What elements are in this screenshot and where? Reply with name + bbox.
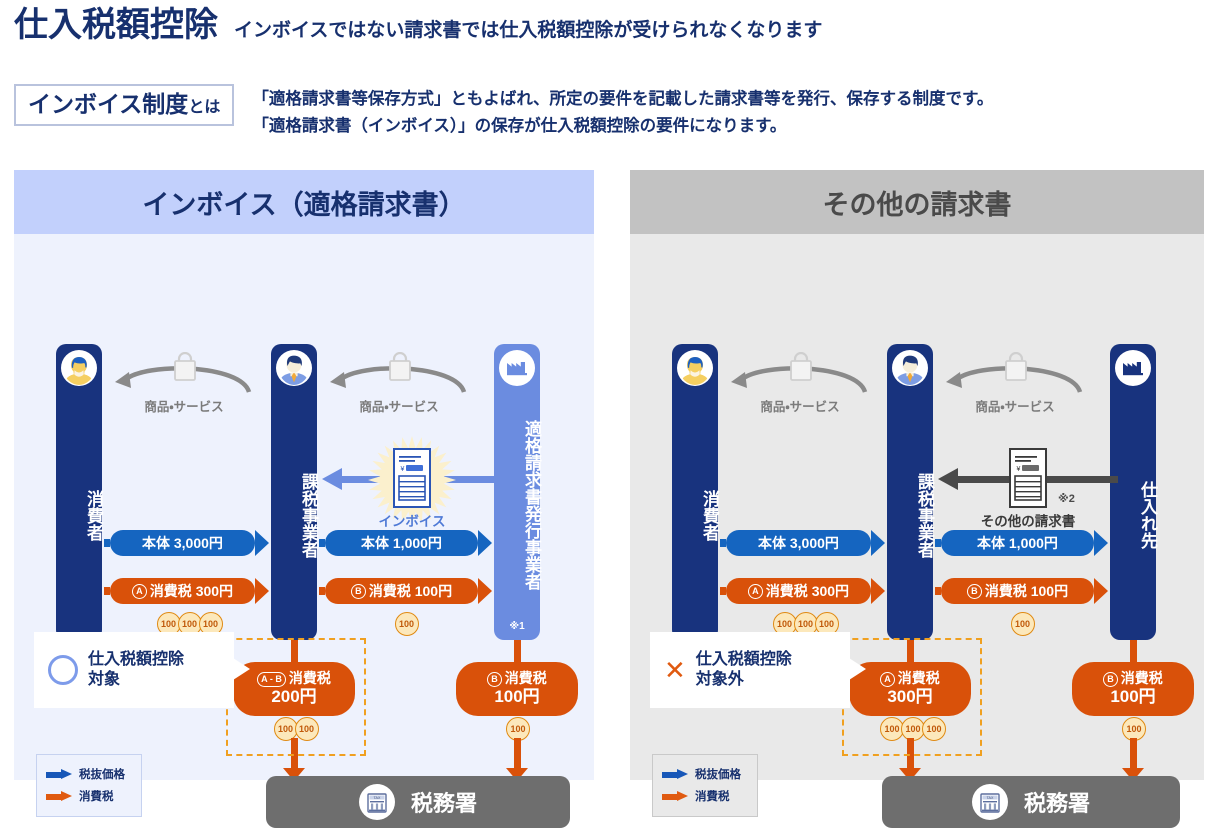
document-flow: ¥ インボイス	[322, 444, 502, 530]
net-price-arrow-2: 本体 1,000円	[935, 530, 1108, 556]
tax-mark-2: B	[967, 584, 982, 599]
svg-text:¥: ¥	[1017, 466, 1021, 473]
tax-flow-stem-top-2	[514, 640, 521, 664]
tax-result-line2-2: 100円	[1110, 687, 1155, 707]
goods-label-2: 商品・サービス	[940, 396, 1090, 415]
definition-line-2: 「適格請求書（インボイス）」の保存が仕入税額控除の要件になります。	[252, 113, 993, 140]
arrow-tip	[1094, 530, 1108, 556]
tax-office-building-icon: TAX	[972, 784, 1008, 820]
legend-label-2: 消費税	[695, 788, 730, 804]
deduction-callout-line1: 仕入税額控除	[696, 650, 792, 670]
legend-arrow-blue	[46, 769, 72, 780]
definition-text: 「適格請求書等保存方式」ともよばれ、所定の要件を記載した請求書等を発行、保存する…	[252, 84, 993, 140]
coin: 100	[1011, 612, 1035, 636]
document-note: ※2	[1058, 492, 1075, 505]
deduction-highlight-box	[226, 638, 366, 756]
actor-column-2[interactable]: 課税事業者	[887, 344, 933, 640]
legend-arrow-blue	[662, 769, 688, 780]
circle-mark-icon	[48, 655, 78, 685]
net-price-label-1: 本体 3,000円	[110, 530, 255, 556]
deduction-highlight-box	[842, 638, 982, 756]
badge-suffix-text: とは	[188, 99, 220, 116]
actor-note-3: ※1	[494, 621, 540, 632]
business-avatar-icon	[276, 350, 312, 386]
goods-flow-2: 商品・サービス	[940, 352, 1090, 414]
tax-result-mark-2: B	[487, 672, 502, 687]
tax-office-label: 税務署	[1024, 786, 1090, 818]
legend-label-1: 税抜価格	[695, 766, 741, 782]
tax-label-2: B消費税 100円	[941, 578, 1094, 604]
tax-result-line1-2: B消費税	[1103, 670, 1163, 687]
consumer-avatar-icon	[61, 350, 97, 386]
document-flow: ¥ ※2 その他の請求書	[938, 444, 1118, 530]
tax-result-box-2: B消費税 100円	[1072, 662, 1194, 716]
deduction-callout-line2: 対象外	[696, 670, 792, 690]
legend-row-2: 消費税	[37, 785, 141, 807]
deduction-callout: ✕ 仕入税額控除 対象外	[650, 632, 850, 708]
badge-main-text: インボイス制度	[28, 91, 188, 117]
deduction-callout-line2: 対象	[88, 670, 184, 690]
tax-arrow-2: B消費税 100円	[319, 578, 492, 604]
factory-icon	[499, 350, 535, 386]
arrow-tip	[478, 530, 492, 556]
coin-group-2: 100	[395, 612, 416, 636]
callout-tail	[849, 658, 866, 680]
page-subtitle: インボイスではない請求書では仕入税額控除が受けられなくなります	[234, 21, 822, 40]
tax-mark-2: B	[351, 584, 366, 599]
tax-result-line1-2: B消費税	[487, 670, 547, 687]
legend-label-2: 消費税	[79, 788, 114, 804]
tax-result-box-2: B消費税 100円	[456, 662, 578, 716]
deduction-callout-text: 仕入税額控除 対象	[88, 650, 184, 691]
svg-text:TAX: TAX	[987, 796, 994, 800]
actor-label-2: 課税事業者	[887, 396, 933, 634]
panel-invoice-body: 消費者 課税事業者 適格請求書発行事業者 ※1 商品・サービス	[14, 234, 594, 780]
tax-office-label: 税務署	[411, 786, 477, 818]
deduction-callout-line1: 仕入税額控除	[88, 650, 184, 670]
panel-other-title: その他の請求書	[630, 170, 1204, 234]
arrow-tip	[871, 578, 885, 604]
tax-arrow-2: B消費税 100円	[935, 578, 1108, 604]
net-price-label-2: 本体 1,000円	[941, 530, 1094, 556]
goods-label-1: 商品・サービス	[725, 396, 875, 415]
tax-arrow-1: A消費税 300円	[720, 578, 885, 604]
legend-label-1: 税抜価格	[79, 766, 125, 782]
tax-result-line2-2: 100円	[494, 687, 539, 707]
legend: 税抜価格 消費税	[36, 754, 142, 817]
arrow-tip	[255, 530, 269, 556]
actor-column-1[interactable]: 消費者	[56, 344, 102, 640]
net-price-arrow-1: 本体 3,000円	[104, 530, 269, 556]
document-arrow-head	[938, 468, 958, 490]
document-arrow-head	[322, 468, 342, 490]
actor-label-1: 消費者	[672, 396, 718, 634]
legend-row-1: 税抜価格	[37, 763, 141, 785]
definition-line-1: 「適格請求書等保存方式」ともよばれ、所定の要件を記載した請求書等を発行、保存する…	[252, 86, 993, 113]
arrow-tip	[871, 530, 885, 556]
tax-arrow-1: A消費税 300円	[104, 578, 269, 604]
net-price-label-1: 本体 3,000円	[726, 530, 871, 556]
tax-mark-1: A	[132, 584, 147, 599]
business-avatar-icon	[892, 350, 928, 386]
deduction-callout: 仕入税額控除 対象	[34, 632, 234, 708]
coin: 100	[395, 612, 419, 636]
callout-tail	[233, 658, 250, 680]
tax-label-1: A消費税 300円	[110, 578, 255, 604]
panel-other-body: 消費者 課税事業者 仕入れ先 商品・サービス	[630, 234, 1204, 780]
page-header: 仕入税額控除 インボイスではない請求書では仕入税額控除が受けられなくなります	[14, 8, 1204, 56]
definition-row: インボイス制度とは 「適格請求書等保存方式」ともよばれ、所定の要件を記載した請求…	[14, 84, 1204, 140]
goods-label-1: 商品・サービス	[109, 396, 259, 415]
tax-label-2: B消費税 100円	[325, 578, 478, 604]
svg-text:¥: ¥	[401, 466, 405, 473]
consumer-avatar-icon	[677, 350, 713, 386]
tax-flow-stem-top-2	[1130, 640, 1137, 664]
actor-label-2: 課税事業者	[271, 396, 317, 634]
legend: 税抜価格 消費税	[652, 754, 758, 817]
goods-label-2: 商品・サービス	[324, 396, 474, 415]
page-title: 仕入税額控除	[14, 8, 218, 42]
legend-row-1: 税抜価格	[653, 763, 757, 785]
cross-mark-icon: ✕	[664, 657, 686, 683]
svg-text:TAX: TAX	[374, 796, 381, 800]
plain-invoice-document-icon: ¥	[1004, 447, 1052, 514]
coin-group-2: 100	[1011, 612, 1032, 636]
arrow-tip	[1094, 578, 1108, 604]
panel-other: その他の請求書 消費者 課税事業者 仕入れ先	[630, 170, 1204, 780]
tax-label-1: A消費税 300円	[726, 578, 871, 604]
net-price-arrow-1: 本体 3,000円	[720, 530, 885, 556]
tax-office-box[interactable]: TAX 税務署	[266, 776, 570, 828]
invoice-document-icon: ¥	[388, 447, 436, 514]
invoice-system-badge: インボイス制度とは	[14, 84, 234, 126]
document-label: インボイス	[352, 510, 472, 530]
legend-row-2: 消費税	[653, 785, 757, 807]
panel-invoice: インボイス（適格請求書） 消費者 課税事業者 適格請求書発行事業者 ※1	[14, 170, 594, 780]
tax-result-mark-2: B	[1103, 672, 1118, 687]
goods-flow-1: 商品・サービス	[725, 352, 875, 414]
arrow-tip	[478, 578, 492, 604]
panel-invoice-title: インボイス（適格請求書）	[14, 170, 594, 234]
net-price-arrow-2: 本体 1,000円	[319, 530, 492, 556]
document-label: その他の請求書	[968, 510, 1088, 530]
goods-flow-1: 商品・サービス	[109, 352, 259, 414]
tax-office-building-icon: TAX	[359, 784, 395, 820]
actor-label-1: 消費者	[56, 396, 102, 634]
actor-column-2[interactable]: 課税事業者	[271, 344, 317, 640]
arrow-tip	[255, 578, 269, 604]
actor-column-1[interactable]: 消費者	[672, 344, 718, 640]
factory-icon	[1115, 350, 1151, 386]
net-price-label-2: 本体 1,000円	[325, 530, 478, 556]
tax-office-box[interactable]: TAX 税務署	[882, 776, 1180, 828]
deduction-callout-text: 仕入税額控除 対象外	[696, 650, 792, 691]
tax-mark-1: A	[748, 584, 763, 599]
goods-flow-2: 商品・サービス	[324, 352, 474, 414]
